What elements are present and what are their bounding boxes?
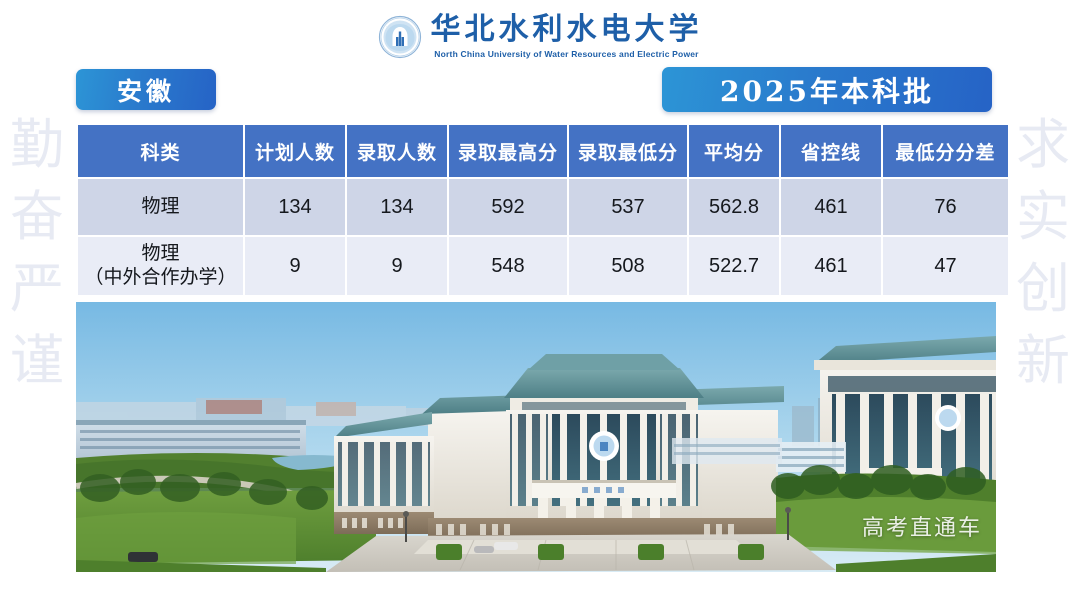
university-crest-icon: · — [378, 15, 422, 59]
university-name-en: North China University of Water Resource… — [434, 50, 698, 59]
column-header-admitted-count: 录取人数 — [347, 125, 447, 177]
cell-avg-score: 522.7 — [689, 237, 779, 295]
admission-score-table: 科类 计划人数 录取人数 录取最高分 录取最低分 平均分 省控线 最低分分差 物… — [76, 123, 1010, 297]
cell-admitted-count: 9 — [347, 237, 447, 295]
cell-admitted-count: 134 — [347, 179, 447, 235]
watermark-right: 求 实 创 新 — [1008, 118, 1078, 388]
watermark-left-char-3: 严 — [10, 262, 64, 316]
watermark-right-char-4: 新 — [1016, 334, 1070, 388]
column-header-plan-count: 计划人数 — [245, 125, 345, 177]
cell-min-score: 537 — [569, 179, 687, 235]
watermark-left-char-4: 谨 — [10, 334, 64, 388]
watermark-left-char-2: 奋 — [10, 190, 64, 244]
cell-category: 物理 — [78, 179, 243, 235]
university-logo-bar: · 华北水利水电大学 North China University of Wat… — [0, 8, 1080, 66]
cell-max-score: 592 — [449, 179, 567, 235]
university-name-cn: 华北水利水电大学 — [431, 15, 703, 45]
cell-category-sub: （中外合作办学） — [78, 266, 243, 290]
cell-min-score: 508 — [569, 237, 687, 295]
cell-provincial-line: 461 — [781, 237, 881, 295]
campus-aerial-photo: 高考直通车 — [76, 302, 996, 572]
batch-badge: 2025年本科批 — [662, 67, 992, 112]
table-row: 物理 （中外合作办学） 9 9 548 508 522.7 461 47 — [78, 237, 1008, 295]
watermark-right-char-3: 创 — [1016, 262, 1070, 316]
university-name-block: 华北水利水电大学 North China University of Water… — [431, 15, 703, 59]
cell-min-score-diff: 76 — [883, 179, 1008, 235]
cell-plan-count: 134 — [245, 179, 345, 235]
table-header-row: 科类 计划人数 录取人数 录取最高分 录取最低分 平均分 省控线 最低分分差 — [78, 125, 1008, 177]
watermark-left-char-1: 勤 — [10, 118, 64, 172]
column-header-avg-score: 平均分 — [689, 125, 779, 177]
province-badge: 安徽 — [76, 69, 216, 110]
column-header-min-score: 录取最低分 — [569, 125, 687, 177]
watermark-left: 勤 奋 严 谨 — [2, 118, 72, 388]
column-header-max-score: 录取最高分 — [449, 125, 567, 177]
column-header-provincial-line: 省控线 — [781, 125, 881, 177]
university-logo: · 华北水利水电大学 North China University of Wat… — [378, 15, 703, 59]
table-row: 物理 134 134 592 537 562.8 461 76 — [78, 179, 1008, 235]
cell-provincial-line: 461 — [781, 179, 881, 235]
column-header-min-score-diff: 最低分分差 — [883, 125, 1008, 177]
watermark-right-char-1: 求 — [1016, 118, 1070, 172]
cell-category-main: 物理 — [141, 243, 179, 264]
cell-min-score-diff: 47 — [883, 237, 1008, 295]
cell-plan-count: 9 — [245, 237, 345, 295]
cell-category: 物理 （中外合作办学） — [78, 237, 243, 295]
cell-max-score: 548 — [449, 237, 567, 295]
cell-avg-score: 562.8 — [689, 179, 779, 235]
watermark-right-char-2: 实 — [1016, 190, 1070, 244]
column-header-category: 科类 — [78, 125, 243, 177]
